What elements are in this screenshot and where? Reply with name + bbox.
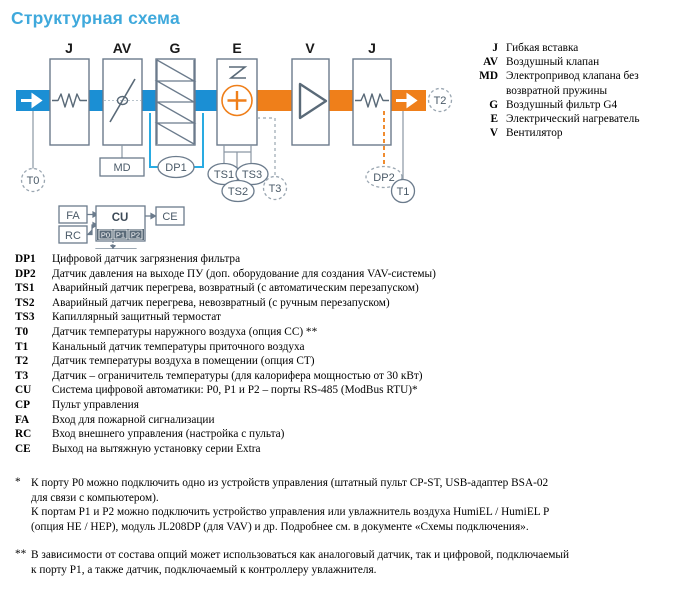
unit-box-e — [217, 59, 257, 145]
desc-key: T3 — [15, 369, 52, 384]
legend-key: G — [462, 98, 506, 112]
desc-text: Канальный датчик температуры приточного … — [52, 340, 305, 355]
desc-text: Капиллярный защитный термостат — [52, 310, 221, 325]
desc-text: Пульт управления — [52, 398, 139, 413]
sensor-t0: T0 — [22, 169, 45, 192]
desc-key: T0 — [15, 325, 52, 340]
desc-row: DP2 Датчик давления на выходе ПУ (доп. о… — [15, 267, 690, 282]
port-label-p2: P2 — [131, 231, 140, 240]
sensor-ts2-label: TS2 — [228, 186, 248, 198]
sensor-t3-label: T3 — [269, 183, 282, 195]
desc-key: DP2 — [15, 267, 52, 282]
desc-key: TS3 — [15, 310, 52, 325]
legend-desc: Электрический нагреватель — [506, 112, 639, 126]
desc-text: Система цифровой автоматики: P0, P1 и P2… — [52, 383, 418, 398]
legend-desc: Вентилятор — [506, 126, 563, 140]
sensor-t2-label: T2 — [434, 95, 447, 107]
legend-desc: Электропривод клапана без — [506, 69, 639, 83]
sensor-t1-label: T1 — [397, 186, 410, 198]
footnote-line: К порту P0 можно подключить одно из устр… — [31, 476, 549, 491]
structural-diagram: J AV G E V J — [0, 34, 460, 249]
sensor-dp1-label: DP1 — [165, 162, 186, 174]
legend-item: V Вентилятор — [462, 126, 698, 140]
legend-key: AV — [462, 55, 506, 69]
box-rc-label: RC — [65, 230, 81, 242]
box-rc: RC — [59, 226, 87, 243]
footnotes: * К порту P0 можно подключить одно из ус… — [15, 476, 693, 580]
desc-key: CP — [15, 398, 52, 413]
diagram-svg: J AV G E V J — [0, 34, 460, 249]
desc-key: T2 — [15, 354, 52, 369]
desc-row: CP Пульт управления — [15, 398, 690, 413]
desc-key: DP1 — [15, 252, 52, 267]
footnote-line: К портам P1 и P2 можно подключить устрой… — [31, 505, 549, 520]
legend-desc: Гибкая вставка — [506, 41, 578, 55]
desc-text: Вход для пожарной сигнализации — [52, 413, 215, 428]
legend-key: V — [462, 126, 506, 140]
desc-key: CE — [15, 442, 52, 457]
sensor-t1: T1 — [392, 180, 415, 203]
sensor-ts1-label: TS1 — [214, 169, 234, 181]
desc-row: RC Вход внешнего управления (настройка с… — [15, 427, 690, 442]
desc-text: Датчик – ограничитель температуры (для к… — [52, 369, 423, 384]
box-cu-label: CU — [112, 212, 129, 224]
box-ce-label: CE — [162, 211, 177, 223]
unit-box-g — [156, 59, 195, 145]
legend-item: E Электрический нагреватель — [462, 112, 698, 126]
sensor-ts2: TS2 — [222, 181, 254, 202]
desc-row: TS1 Аварийный датчик перегрева, возвратн… — [15, 281, 690, 296]
sensor-t0-label: T0 — [27, 175, 40, 187]
desc-row: CU Система цифровой автоматики: P0, P1 и… — [15, 383, 690, 398]
unit-box-j2 — [353, 59, 391, 145]
box-fa: FA — [59, 206, 87, 223]
unit-label-av: AV — [113, 40, 132, 56]
sensor-dp2-label: DP2 — [373, 172, 394, 184]
unit-box-v — [292, 59, 329, 145]
desc-row: T2 Датчик температуры воздуха в помещени… — [15, 354, 690, 369]
desc-text: Цифровой датчик загрязнения фильтра — [52, 252, 240, 267]
sensor-dp1: DP1 — [158, 157, 194, 178]
component-legend: J Гибкая вставка AV Воздушный клапан MD … — [462, 41, 698, 140]
unit-box-av — [103, 59, 142, 145]
box-fa-label: FA — [66, 210, 80, 222]
box-cu: CU P0 P1 P2 — [96, 206, 145, 241]
desc-text: Аварийный датчик перегрева, возвратный (… — [52, 281, 419, 296]
unit-labels: J AV G E V J — [65, 40, 376, 56]
desc-text: Аварийный датчик перегрева, невозвратный… — [52, 296, 390, 311]
legend-item: AV Воздушный клапан — [462, 55, 698, 69]
desc-row: DP1 Цифровой датчик загрязнения фильтра — [15, 252, 690, 267]
legend-key: J — [462, 41, 506, 55]
footnote-body: К порту P0 можно подключить одно из устр… — [31, 476, 549, 534]
footnote-double-star: ** В зависимости от состава опций может … — [15, 548, 693, 577]
unit-label-j2: J — [368, 40, 376, 56]
desc-row: TS2 Аварийный датчик перегрева, невозвра… — [15, 296, 690, 311]
legend-key: MD — [462, 69, 506, 83]
unit-label-e: E — [232, 40, 241, 56]
desc-text: Датчик температуры наружного воздуха (оп… — [52, 325, 317, 340]
desc-key: TS1 — [15, 281, 52, 296]
legend-item: J Гибкая вставка — [462, 41, 698, 55]
port-label-p1: P1 — [116, 231, 125, 240]
unit-label-j1: J — [65, 40, 73, 56]
sensor-t3: T3 — [264, 177, 287, 200]
desc-key: CU — [15, 383, 52, 398]
legend-item: G Воздушный фильтр G4 — [462, 98, 698, 112]
desc-row: T3 Датчик – ограничитель температуры (дл… — [15, 369, 690, 384]
box-md: MD — [100, 158, 144, 176]
port-label-p0: P0 — [101, 231, 110, 240]
desc-row: TS3 Капиллярный защитный термостат — [15, 310, 690, 325]
sensor-t2: T2 — [429, 89, 452, 112]
footnote-line: (опция HE / HEP), модуль JL208DP (для VA… — [31, 520, 549, 535]
desc-row: T0 Датчик температуры наружного воздуха … — [15, 325, 690, 340]
desc-row: T1 Канальный датчик температуры приточно… — [15, 340, 690, 355]
legend-desc: Воздушный фильтр G4 — [506, 98, 617, 112]
page-title: Структурная схема — [11, 8, 180, 29]
footnote-single-star: * К порту P0 можно подключить одно из ус… — [15, 476, 693, 534]
footnote-mark: * — [15, 476, 31, 534]
desc-key: TS2 — [15, 296, 52, 311]
footnote-line: В зависимости от состава опций может исп… — [31, 548, 569, 563]
footnote-mark: ** — [15, 548, 31, 577]
desc-key: RC — [15, 427, 52, 442]
box-ce: CE — [156, 207, 184, 225]
desc-row: CE Выход на вытяжную установку серии Ext… — [15, 442, 690, 457]
footnote-line: к порту P1, а также датчик, подключаемый… — [31, 563, 569, 578]
sensor-ts3-label: TS3 — [242, 169, 262, 181]
unit-label-g: G — [170, 40, 181, 56]
abbreviation-list: DP1 Цифровой датчик загрязнения фильтра … — [15, 252, 690, 456]
unit-label-v: V — [305, 40, 315, 56]
desc-key: T1 — [15, 340, 52, 355]
desc-text: Вход внешнего управления (настройка с пу… — [52, 427, 284, 442]
legend-item: MD Электропривод клапана без — [462, 69, 698, 83]
footnote-line: для связи с компьютером). — [31, 491, 549, 506]
footnote-body: В зависимости от состава опций может исп… — [31, 548, 569, 577]
footnote-spacer — [15, 536, 693, 548]
page-root: Структурная схема — [0, 0, 700, 591]
legend-desc-continuation: возвратной пружины — [462, 84, 698, 98]
desc-text: Выход на вытяжную установку серии Extra — [52, 442, 261, 457]
desc-text: Датчик температуры воздуха в помещении (… — [52, 354, 315, 369]
legend-key: E — [462, 112, 506, 126]
unit-box-j1 — [50, 59, 89, 145]
legend-desc: Воздушный клапан — [506, 55, 599, 69]
desc-text: Датчик давления на выходе ПУ (доп. обору… — [52, 267, 436, 282]
desc-row: FA Вход для пожарной сигнализации — [15, 413, 690, 428]
desc-key: FA — [15, 413, 52, 428]
box-md-label: MD — [113, 162, 130, 174]
